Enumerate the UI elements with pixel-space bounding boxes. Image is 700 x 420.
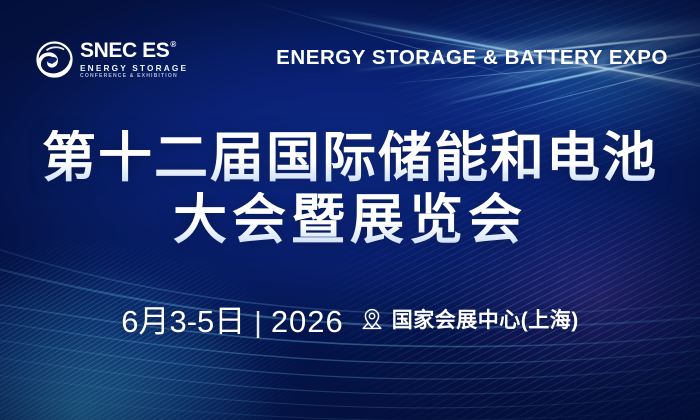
snec-logo-text: SNEC ES ® ENERGY STORAGE CONFERENCE & EX… [80,40,188,79]
page-title-line-1: 第十二届国际储能和电池 [0,130,700,186]
event-date-group: 6月3-5日 | 2026 [121,296,344,341]
snec-wordmark-row: SNEC ES ® [80,40,188,61]
snec-subtitle-secondary: CONFERENCE & EXHIBITION [80,74,188,79]
snec-swirl-mark-icon [36,41,73,78]
event-date: 6月3-5日 [121,296,245,341]
snec-logo[interactable]: SNEC ES ® ENERGY STORAGE CONFERENCE & EX… [36,40,188,79]
main-title-block: 第十二届国际储能和电池 大会暨展览会 [0,130,700,248]
event-venue: 国家会展中心(上海) [392,304,579,334]
event-venue-group: 国家会展中心(上海) [360,304,579,334]
snec-subtitle-primary: ENERGY STORAGE [80,64,188,72]
event-banner: SNEC ES ® ENERGY STORAGE CONFERENCE & EX… [0,0,700,420]
snec-wordmark: SNEC ES [80,40,169,61]
event-info-row: 6月3-5日 | 2026 国家会展中心(上海) [0,296,700,341]
english-event-title: ENERGY STORAGE & BATTERY EXPO [276,46,668,70]
location-pin-icon [360,307,384,331]
page-title-line-2: 大会暨展览会 [0,192,700,248]
date-year-separator: | [254,307,262,340]
registered-mark: ® [170,41,176,49]
banner-header: SNEC ES ® ENERGY STORAGE CONFERENCE & EX… [0,0,700,100]
event-year: 2026 [271,304,344,340]
